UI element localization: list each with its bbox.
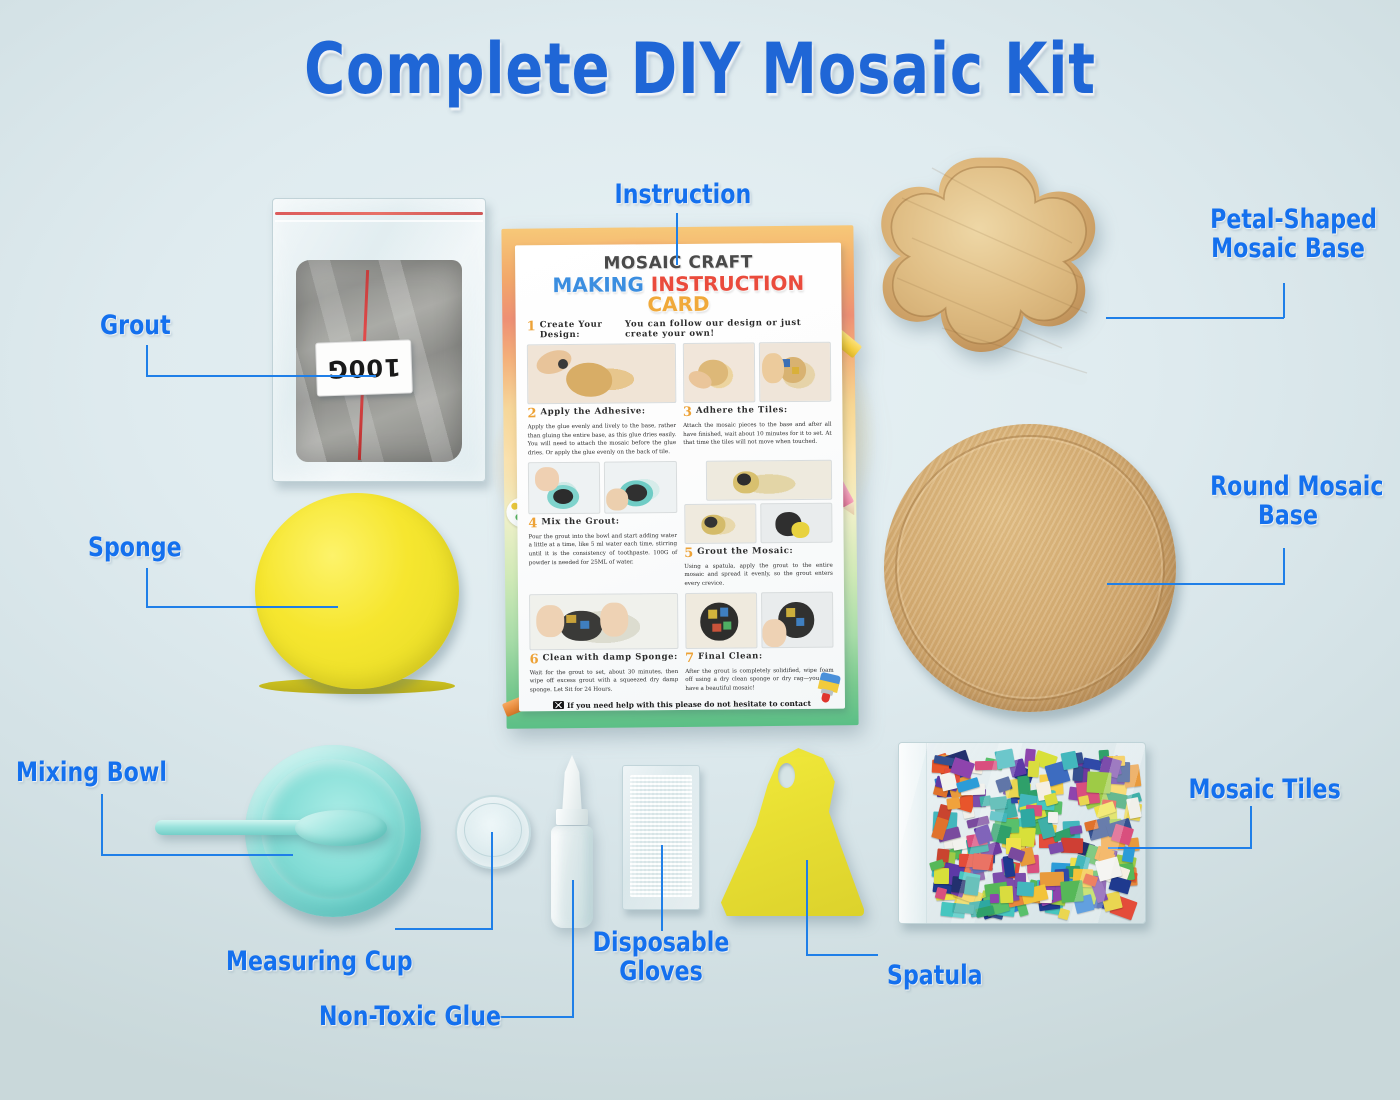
card-subheading-card: CARD xyxy=(647,292,709,317)
page-title: Complete DIY Mosaic Kit xyxy=(140,28,1260,110)
card-photo-row-1: 2 Apply the Adhesive: Apply the glue eve… xyxy=(527,342,832,458)
card-step-5: 5 Grout the Mosaic: xyxy=(684,545,833,559)
step-photo-mix-a xyxy=(528,461,601,514)
mosaic-tiles-contents xyxy=(929,749,1140,917)
card-column-left-1: 2 Apply the Adhesive: Apply the glue eve… xyxy=(527,343,676,458)
mosaic-tile xyxy=(990,894,1000,903)
card-step-2: 2 Apply the Adhesive: xyxy=(527,406,676,420)
step-1-title: Create Your Design: xyxy=(540,320,621,341)
step-7-title: Final Clean: xyxy=(698,651,763,662)
leader-sponge-h xyxy=(146,606,338,608)
tiles-bag-zip-edge xyxy=(899,743,927,923)
card-column-right-2: 5 Grout the Mosaic: Using a spatula, app… xyxy=(683,459,833,588)
product-grout-bag: 100G xyxy=(272,198,486,482)
step-photo-design xyxy=(527,343,676,404)
glue-bottle-neck xyxy=(556,809,588,825)
mosaic-tile xyxy=(975,761,997,771)
mosaic-tile xyxy=(1060,751,1078,770)
product-round-mosaic-base xyxy=(884,424,1176,712)
card-step-6: 6 Clean with damp Sponge: xyxy=(530,652,679,666)
label-round-mosaic-base: Round MosaicBase xyxy=(1210,472,1366,530)
card-subheading: MAKING INSTRUCTION CARD xyxy=(526,273,830,316)
step-2-number: 2 xyxy=(527,407,536,420)
spoon-head xyxy=(295,810,387,846)
step-3-photo-pair xyxy=(682,342,831,403)
leader-mixing-bowl-h xyxy=(101,854,293,856)
step-7-body: After the grout is completely solidified… xyxy=(685,666,834,693)
leader-grout-v xyxy=(146,345,148,377)
spoon-handle xyxy=(155,820,315,835)
step-6-body: Wait for the grout to set, about 30 minu… xyxy=(530,668,679,695)
card-step-3: 3 Adhere the Tiles: xyxy=(683,405,832,419)
leader-measuring-cup-h xyxy=(395,928,493,930)
label-sponge: Sponge xyxy=(88,533,182,562)
leader-round-base-v xyxy=(1283,548,1285,584)
step-4-body: Pour the grout into the bowl and start a… xyxy=(528,532,677,568)
step-5-photo-pair xyxy=(684,502,833,543)
label-disposable-gloves: DisposableGloves xyxy=(591,928,730,986)
mosaic-tile xyxy=(1047,811,1057,822)
leader-mixing-bowl-v xyxy=(101,794,103,856)
step-1-subtitle: You can follow our design or just create… xyxy=(625,318,831,340)
mosaic-tile xyxy=(1060,881,1083,904)
mosaic-tile xyxy=(990,811,1008,823)
step-7-photo-pair xyxy=(685,591,834,648)
leader-glue-v xyxy=(572,880,574,1018)
product-mosaic-tiles-bag xyxy=(898,742,1146,924)
step-5-number: 5 xyxy=(684,547,693,560)
measuring-cup-rim xyxy=(464,803,522,857)
step-photo-grout-b xyxy=(760,502,833,543)
infographic-canvas: Complete DIY Mosaic Kit 100G xyxy=(0,0,1400,1100)
step-photo-final-a xyxy=(685,592,758,649)
card-column-right-1: 3 Adhere the Tiles: Attach the mosaic pi… xyxy=(682,342,831,457)
mosaic-tile xyxy=(999,885,1013,903)
leader-sponge-v xyxy=(146,568,148,608)
mosaic-tile xyxy=(934,867,949,883)
card-step-1: 1 Create Your Design: You can follow our… xyxy=(527,318,831,341)
card-photo-row-3: 6 Clean with damp Sponge: Wait for the g… xyxy=(529,591,834,695)
step-4-title: Mix the Grout: xyxy=(541,516,619,527)
step-3-number: 3 xyxy=(683,406,692,419)
card-photo-row-2: 4 Mix the Grout: Pour the grout into the… xyxy=(528,459,833,590)
step-photo-grout-top xyxy=(705,459,832,500)
mail-icon xyxy=(553,701,564,709)
leader-spatula-v xyxy=(806,860,808,956)
leader-petal-base-h xyxy=(1106,317,1284,319)
mosaic-tile xyxy=(1058,908,1070,920)
step-photo-tiles-b xyxy=(759,342,832,403)
card-column-left-3: 6 Clean with damp Sponge: Wait for the g… xyxy=(529,593,678,695)
step-4-number: 4 xyxy=(528,517,537,530)
spatula-hang-hole xyxy=(778,763,795,788)
paintbrush-icon xyxy=(812,671,844,706)
mosaic-tile xyxy=(1028,761,1039,777)
card-column-right-3: 7 Final Clean: After the grout is comple… xyxy=(685,591,834,693)
leader-measuring-cup-v xyxy=(491,832,493,930)
mosaic-tile xyxy=(989,796,1007,809)
mosaic-tile xyxy=(1016,881,1033,896)
product-sponge xyxy=(255,493,459,689)
leader-instruction xyxy=(676,213,678,265)
card-step-4: 4 Mix the Grout: xyxy=(528,516,677,530)
step-photo-final-b xyxy=(761,591,834,648)
leader-round-base-h xyxy=(1107,583,1285,585)
grout-bag-zip-seal xyxy=(275,212,483,215)
mosaic-tile xyxy=(946,797,960,810)
label-spatula: Spatula xyxy=(887,961,983,990)
leader-petal-base-v xyxy=(1283,283,1285,318)
card-subheading-making: MAKING xyxy=(552,272,644,297)
step-2-title: Apply the Adhesive: xyxy=(540,406,645,417)
label-petal-mosaic-base: Petal-ShapedMosaic Base xyxy=(1210,205,1366,263)
step-1-number: 1 xyxy=(527,320,536,333)
grout-weight-text: 100G xyxy=(327,353,402,384)
step-3-body: Attach the mosaic pieces to the base and… xyxy=(683,421,832,448)
step-photo-sponge-clean xyxy=(529,593,678,650)
glue-bottle-cap xyxy=(559,755,585,813)
label-mixing-bowl: Mixing Bowl xyxy=(16,758,167,787)
product-stirring-spoon xyxy=(155,808,385,848)
step-6-title: Clean with damp Sponge: xyxy=(543,652,678,663)
step-3-title: Adhere the Tiles: xyxy=(696,405,788,416)
product-spatula xyxy=(718,748,864,916)
step-photo-tiles-a xyxy=(682,342,755,403)
step-photo-grout-a xyxy=(684,503,757,544)
mosaic-tile xyxy=(1020,808,1036,827)
instruction-card-front: MOSAIC CRAFT MAKING INSTRUCTION CARD 1 C… xyxy=(515,243,845,712)
label-non-toxic-glue: Non-Toxic Glue xyxy=(319,1002,483,1031)
card-step-7: 7 Final Clean: xyxy=(685,650,834,664)
mosaic-tile xyxy=(953,903,975,914)
label-mosaic-tiles: Mosaic Tiles xyxy=(1189,775,1312,804)
mosaic-tile xyxy=(1086,771,1111,793)
step-7-number: 7 xyxy=(685,651,694,664)
mosaic-tile xyxy=(964,877,980,896)
card-column-left-2: 4 Mix the Grout: Pour the grout into the… xyxy=(528,461,678,590)
mosaic-tile xyxy=(994,748,1015,769)
product-instruction-card: MOSAIC CRAFT MAKING INSTRUCTION CARD 1 C… xyxy=(504,227,856,727)
step-6-number: 6 xyxy=(530,653,539,666)
label-grout: Grout xyxy=(100,311,171,340)
leader-mosaic-tiles-v xyxy=(1250,806,1252,848)
step-4-photo-pair xyxy=(528,461,677,514)
grout-bag-zip-highlight xyxy=(275,220,483,222)
step-5-body: Using a spatula, apply the grout to the … xyxy=(684,561,833,588)
petal-base-shape xyxy=(872,138,1118,390)
mosaic-tile xyxy=(1072,766,1083,782)
leader-spatula-h xyxy=(806,954,878,956)
label-instruction: Instruction xyxy=(615,180,738,209)
step-5-title: Grout the Mosaic: xyxy=(697,546,793,557)
product-measuring-cup xyxy=(455,795,531,869)
leader-mosaic-tiles-h xyxy=(1108,847,1252,849)
step-photo-mix-b xyxy=(604,461,677,514)
step-2-body: Apply the glue evenly and lively to the … xyxy=(528,422,677,458)
label-measuring-cup: Measuring Cup xyxy=(226,947,390,976)
leader-gloves-v xyxy=(661,845,663,931)
leader-glue-h xyxy=(490,1016,574,1018)
mosaic-tile xyxy=(1069,825,1082,835)
grout-weight-tag: 100G xyxy=(315,339,413,396)
product-petal-mosaic-base xyxy=(872,138,1118,390)
leader-grout-h xyxy=(146,375,376,377)
mosaic-tile xyxy=(973,853,995,871)
card-footer-line-1: If you need help with this please do not… xyxy=(567,698,811,709)
round-base-groove xyxy=(895,435,1165,701)
